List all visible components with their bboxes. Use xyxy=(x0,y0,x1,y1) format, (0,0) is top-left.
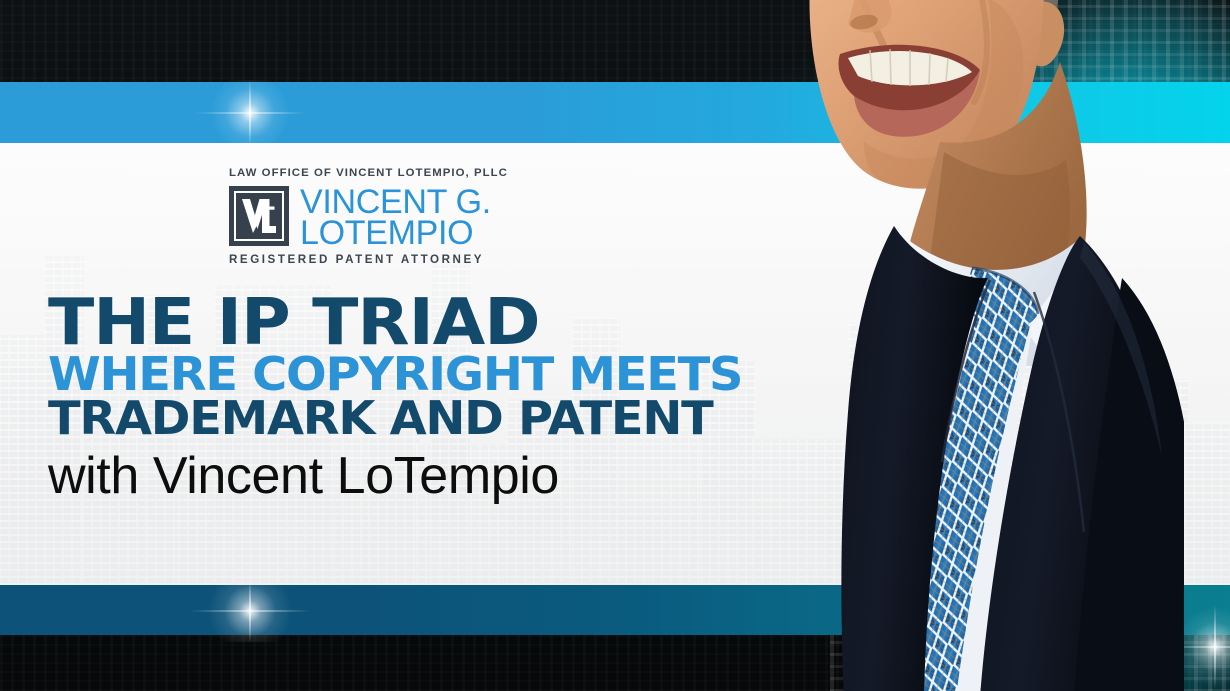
cover-art-canvas: LAW OFFICE OF VINCENT LOTEMPIO, PLLC VIN… xyxy=(0,0,1230,691)
headline-line-2: WHERE COPYRIGHT MEETS xyxy=(48,354,776,394)
logo-tagline-bottom: REGISTERED PATENT ATTORNEY xyxy=(229,254,509,266)
headline-subtitle: with Vincent LoTempio xyxy=(48,450,748,503)
smiling-man-in-suit-portrait xyxy=(744,0,1184,691)
headline-line-1: THE IP TRIAD xyxy=(48,297,790,349)
logo-tagline-top: LAW OFFICE OF VINCENT LOTEMPIO, PLLC xyxy=(229,168,509,179)
headline-line-3: TRADEMARK AND PATENT xyxy=(48,398,776,438)
logo-wordmark: VINCENT G. LOTEMPIO xyxy=(300,186,491,247)
headline-block: THE IP TRIAD WHERE COPYRIGHT MEETS TRADE… xyxy=(48,297,748,503)
brand-logo-lockup: LAW OFFICE OF VINCENT LOTEMPIO, PLLC VIN… xyxy=(229,168,509,265)
logo-name-line2: LOTEMPIO xyxy=(300,219,491,248)
vl-monogram-icon xyxy=(229,186,289,246)
